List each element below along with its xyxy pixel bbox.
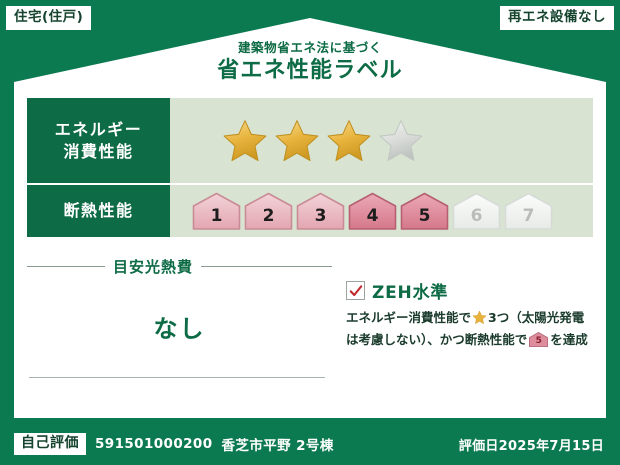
zeh-desc-part3: を達成 bbox=[550, 332, 588, 347]
insulation-grade-number: 2 bbox=[263, 208, 275, 225]
title-subtitle: 建築物省エネ法に基づく bbox=[0, 40, 620, 55]
energy-performance-body bbox=[170, 98, 593, 183]
utility-cost-heading: 目安光熱費 bbox=[27, 252, 332, 277]
insulation-grade-4: 4 bbox=[348, 192, 397, 230]
insulation-performance-label: 断熱性能 bbox=[27, 185, 170, 237]
heading-rule-right bbox=[201, 266, 332, 267]
utility-cost-value: なし bbox=[27, 309, 332, 344]
insulation-grade-number: 6 bbox=[471, 208, 483, 225]
energy-performance-label: エネルギー 消費性能 bbox=[27, 98, 170, 183]
insulation-grade-7: 7 bbox=[504, 192, 553, 230]
energy-label-line2: 消費性能 bbox=[63, 141, 133, 163]
zeh-heading: ZEH水準 bbox=[346, 252, 593, 303]
self-evaluation-badge: 自己評価 bbox=[14, 433, 86, 455]
zeh-desc-part2: は考慮しない）、かつ断熱性能で bbox=[346, 332, 527, 347]
zeh-desc-grade: 5 bbox=[529, 332, 548, 347]
badge-renewable-equipment: 再エネ設備なし bbox=[500, 6, 614, 30]
zeh-description: エネルギー消費性能で3つ（太陽光発電は考慮しない）、かつ断熱性能で5を達成 bbox=[346, 308, 593, 350]
zeh-section: ZEH水準 エネルギー消費性能で3つ（太陽光発電は考慮しない）、かつ断熱性能で5… bbox=[332, 252, 593, 402]
heading-rule-left bbox=[27, 266, 105, 267]
zeh-title: ZEH水準 bbox=[372, 278, 448, 303]
star-icon-empty bbox=[378, 118, 424, 164]
insulation-grade-number: 3 bbox=[315, 208, 327, 225]
energy-label-line1: エネルギー bbox=[55, 119, 143, 141]
star-icon-inline bbox=[472, 313, 487, 328]
star-icon-filled bbox=[222, 118, 268, 164]
zeh-desc-stars: 3つ（太陽光発電 bbox=[488, 310, 584, 325]
badge-building-type: 住宅(住戸) bbox=[6, 6, 91, 30]
insulation-grade-6: 6 bbox=[452, 192, 501, 230]
title-main: 省エネ性能ラベル bbox=[0, 57, 620, 85]
insulation-grade-scale: 1234567 bbox=[170, 192, 553, 230]
zeh-desc-part1: エネルギー消費性能で bbox=[346, 310, 471, 325]
star-rating bbox=[170, 118, 424, 164]
utility-cost-section: 目安光熱費 なし bbox=[27, 252, 332, 402]
energy-performance-row: エネルギー 消費性能 bbox=[27, 98, 593, 183]
footer-address: 香芝市平野 2号棟 bbox=[222, 434, 334, 454]
insulation-grade-5: 5 bbox=[400, 192, 449, 230]
lower-section: 目安光熱費 なし ZEH水準 エネルギー消費性能で3つ（太陽光発電は考慮しない）… bbox=[27, 252, 593, 402]
label-footer: 自己評価 591501000200 香芝市平野 2号棟 評価日2025年7月15… bbox=[0, 423, 620, 465]
label-title: 建築物省エネ法に基づく 省エネ性能ラベル bbox=[0, 40, 620, 85]
insulation-grade-number: 7 bbox=[523, 208, 535, 225]
energy-performance-label: 住宅(住戸) 再エネ設備なし 建築物省エネ法に基づく 省エネ性能ラベル エネルギ… bbox=[0, 0, 620, 465]
utility-cost-title: 目安光熱費 bbox=[113, 256, 193, 277]
house-badge-icon-inline: 5 bbox=[529, 332, 548, 347]
footer-id: 591501000200 bbox=[95, 436, 213, 452]
footer-left-group: 自己評価 591501000200 香芝市平野 2号棟 bbox=[0, 433, 334, 455]
performance-panel: エネルギー 消費性能 断熱性能 1234567 bbox=[27, 98, 593, 237]
insulation-grade-number: 5 bbox=[419, 208, 431, 225]
star-icon-filled bbox=[274, 118, 320, 164]
insulation-performance-row: 断熱性能 1234567 bbox=[27, 185, 593, 237]
insulation-grade-number: 1 bbox=[211, 208, 223, 225]
utility-cost-bottom-rule bbox=[29, 377, 325, 378]
insulation-performance-body: 1234567 bbox=[170, 185, 593, 237]
insulation-grade-2: 2 bbox=[244, 192, 293, 230]
insulation-grade-3: 3 bbox=[296, 192, 345, 230]
check-icon bbox=[346, 281, 365, 300]
star-icon-filled bbox=[326, 118, 372, 164]
insulation-grade-1: 1 bbox=[192, 192, 241, 230]
insulation-label-text: 断熱性能 bbox=[63, 200, 133, 222]
footer-evaluation-date: 評価日2025年7月15日 bbox=[459, 435, 620, 454]
insulation-grade-number: 4 bbox=[367, 208, 379, 225]
